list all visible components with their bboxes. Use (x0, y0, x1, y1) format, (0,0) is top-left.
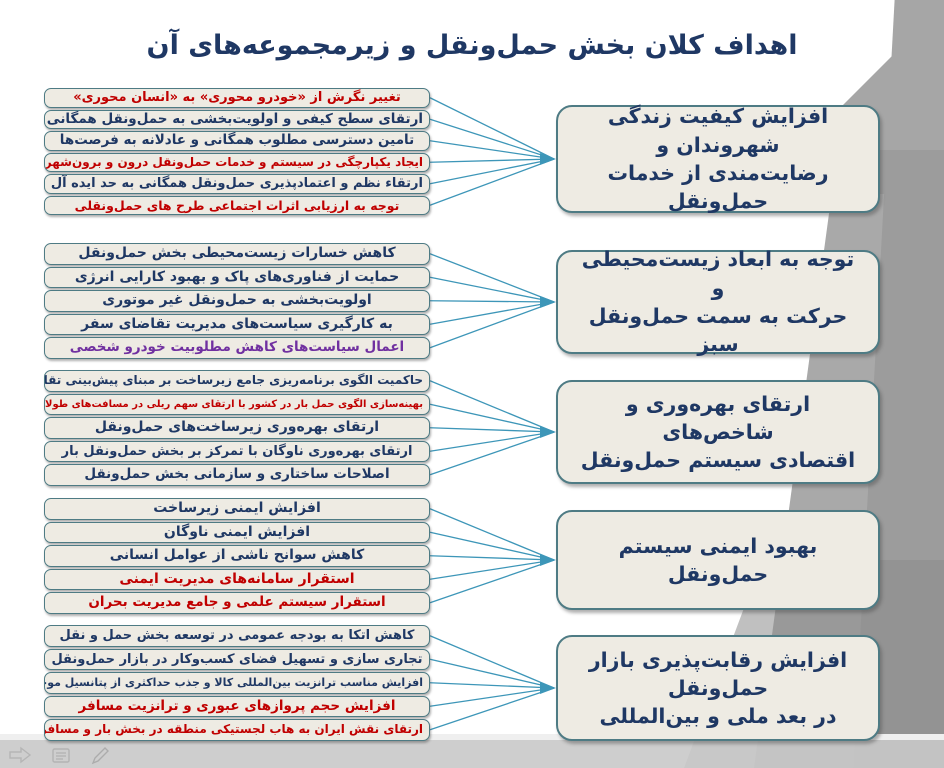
pencil-icon[interactable] (90, 744, 112, 766)
subgoal-label: استقرار سیستم علمی و جامع مدیریت بحران (51, 595, 423, 611)
connector-line (430, 560, 554, 603)
slide-canvas: اهداف کلان بخش حمل‌ونقل و زیرمجموعه‌های … (0, 0, 944, 768)
connector-line (430, 302, 554, 348)
subgoal-box[interactable]: حمایت از فناوری‌های پاک و بهبود کارایی ا… (44, 267, 430, 289)
subgoal-group: افزایش ایمنی زیرساختافزایش ایمنی ناوگانک… (44, 498, 430, 616)
main-goal-line: ارتقای بهره‌وری و شاخص‌های (572, 390, 864, 447)
main-goal-label: افزایش کیفیت زندگی شهروندان ورضایت‌مندی … (572, 102, 864, 215)
subgoal-label: ارتقای نقش ایران به هاب لجستیکی منطقه در… (51, 722, 423, 738)
connector-line (430, 159, 554, 184)
subgoal-box[interactable]: تغییر نگرش از «خودرو محوری» به «انسان مح… (44, 88, 430, 108)
connector-line (430, 159, 554, 162)
main-goal-line: اقتصادی سیستم حمل‌ونقل (572, 446, 864, 474)
connector-line (430, 302, 554, 324)
connector-line (430, 432, 554, 451)
main-goal-line: توجه به ابعاد زیست‌محیطی و (572, 245, 864, 302)
subgoal-box[interactable]: اولویت‌بخشی به حمل‌ونقل غیر موتوری (44, 290, 430, 312)
main-goal-box[interactable]: بهبود ایمنی سیستم حمل‌ونقل (556, 510, 880, 610)
subgoal-label: اصلاحات ساختاری و سازمانی بخش حمل‌ونقل (51, 467, 423, 483)
connector-line (430, 636, 554, 688)
connector-arrowhead (540, 682, 556, 694)
main-goal-line: رضایت‌مندی از خدمات حمل‌ونقل (572, 159, 864, 216)
main-goal-line: افزایش رقابت‌پذیری بازار حمل‌ونقل (572, 646, 864, 703)
arrow-right-icon[interactable] (8, 744, 32, 766)
connector-line (430, 277, 554, 302)
subgoal-box[interactable]: استقرار سامانه‌های مدیریت ایمنی (44, 569, 430, 591)
subgoal-group: کاهش خسارات زیست‌محیطی بخش حمل‌ونقلحمایت… (44, 243, 430, 361)
subgoal-label: کاهش اتکا به بودجه عمومی در توسعه بخش حم… (51, 628, 423, 644)
subgoal-box[interactable]: تجاری سازی و تسهیل فضای کسب‌وکار در بازا… (44, 649, 430, 671)
subgoal-box[interactable]: افزایش ایمنی ناوگان (44, 522, 430, 544)
subgoal-label: تامین دسترسی مطلوب همگانی و عادلانه به ف… (51, 134, 423, 148)
subgoal-box[interactable]: ارتقای نقش ایران به هاب لجستیکی منطقه در… (44, 719, 430, 741)
main-goal-line: حرکت به سمت حمل‌ونقل سبز (572, 302, 864, 359)
subgoal-label: تغییر نگرش از «خودرو محوری» به «انسان مح… (51, 91, 423, 105)
subgoal-label: حاکمیت الگوی برنامه‌ریزی جامع زیرساخت بر… (51, 373, 423, 389)
subgoal-box[interactable]: ارتقای سطح کیفی و اولویت‌بخشی به حمل‌ونق… (44, 110, 430, 130)
connector-line (430, 301, 554, 302)
subgoal-box[interactable]: بهینه‌سازی الگوی حمل بار در کشور با ارتق… (44, 394, 430, 416)
subgoal-box[interactable]: کاهش سوانح ناشی از عوامل انسانی (44, 545, 430, 567)
main-goal-label: توجه به ابعاد زیست‌محیطی وحرکت به سمت حم… (572, 245, 864, 358)
subgoal-group: تغییر نگرش از «خودرو محوری» به «انسان مح… (44, 88, 430, 217)
connector-line (430, 119, 554, 159)
main-goal-box[interactable]: توجه به ابعاد زیست‌محیطی وحرکت به سمت حم… (556, 250, 880, 354)
subgoal-box[interactable]: افزایش حجم پروازهای عبوری و ترانزیت مساف… (44, 696, 430, 718)
connector-arrowhead (540, 296, 556, 308)
main-goal-box[interactable]: ارتقای بهره‌وری و شاخص‌هایاقتصادی سیستم … (556, 380, 880, 484)
main-goal-label: افزایش رقابت‌پذیری بازار حمل‌ونقلدر بعد … (572, 646, 864, 731)
connector-line (430, 688, 554, 730)
connector-arrowhead (540, 426, 556, 438)
subgoal-box[interactable]: افزایش مناسب ترانزیت بین‌المللی کالا و ج… (44, 672, 430, 694)
subgoal-label: ارتقای سطح کیفی و اولویت‌بخشی به حمل‌ونق… (51, 113, 423, 127)
connector-line (430, 432, 554, 475)
subgoal-box[interactable]: حاکمیت الگوی برنامه‌ریزی جامع زیرساخت بر… (44, 370, 430, 392)
connector-line (430, 509, 554, 560)
status-tray (8, 744, 112, 766)
connector-arrowhead (540, 153, 556, 165)
subgoal-label: ارتقاء نظم و اعتمادپذیری حمل‌ونقل همگانی… (51, 177, 423, 191)
main-goal-box[interactable]: افزایش کیفیت زندگی شهروندان ورضایت‌مندی … (556, 105, 880, 213)
subgoal-label: کاهش سوانح ناشی از عوامل انسانی (51, 548, 423, 564)
subgoal-label: افزایش ایمنی زیرساخت (51, 501, 423, 517)
connector-line (430, 560, 554, 579)
main-goal-line: بهبود ایمنی سیستم حمل‌ونقل (572, 532, 864, 589)
subgoal-box[interactable]: کاهش خسارات زیست‌محیطی بخش حمل‌ونقل (44, 243, 430, 265)
subgoal-label: توجه به ارزیابی اثرات اجتماعی طرح های حم… (51, 199, 423, 213)
subgoal-label: افزایش حجم پروازهای عبوری و ترانزیت مساف… (51, 699, 423, 715)
subgoal-box[interactable]: ارتقاء نظم و اعتمادپذیری حمل‌ونقل همگانی… (44, 174, 430, 194)
subgoal-group: کاهش اتکا به بودجه عمومی در توسعه بخش حم… (44, 625, 430, 743)
main-goal-line: افزایش کیفیت زندگی شهروندان و (572, 102, 864, 159)
subgoal-label: افزایش ایمنی ناوگان (51, 525, 423, 541)
subgoal-label: ارتقای بهره‌وری زیرساخت‌های حمل‌ونقل (51, 420, 423, 436)
main-goal-box[interactable]: افزایش رقابت‌پذیری بازار حمل‌ونقلدر بعد … (556, 635, 880, 741)
subgoal-label: حمایت از فناوری‌های پاک و بهبود کارایی ا… (51, 270, 423, 286)
main-goal-label: بهبود ایمنی سیستم حمل‌ونقل (572, 532, 864, 589)
subgoal-label: کاهش خسارات زیست‌محیطی بخش حمل‌ونقل (51, 246, 423, 262)
subgoal-box[interactable]: اعمال سیاست‌های کاهش مطلوبیت خودرو شخصی (44, 337, 430, 359)
main-goal-line: در بعد ملی و بین‌المللی (572, 702, 864, 730)
main-goal-label: ارتقای بهره‌وری و شاخص‌هایاقتصادی سیستم … (572, 390, 864, 475)
subgoal-box[interactable]: اصلاحات ساختاری و سازمانی بخش حمل‌ونقل (44, 464, 430, 486)
connector-line (430, 688, 554, 706)
subgoal-label: استقرار سامانه‌های مدیریت ایمنی (51, 572, 423, 588)
subgoal-label: ارتقای بهره‌وری ناوگان با تمرکز بر بخش ح… (51, 444, 423, 460)
subgoal-box[interactable]: به کارگیری سیاست‌های مدیریت تقاضای سفر (44, 314, 430, 336)
notes-icon[interactable] (50, 744, 72, 766)
connector-line (430, 254, 554, 302)
subgoal-label: افزایش مناسب ترانزیت بین‌المللی کالا و ج… (51, 675, 423, 691)
subgoal-box[interactable]: ارتقای بهره‌وری ناوگان با تمرکز بر بخش ح… (44, 441, 430, 463)
connector-arrowhead (540, 554, 556, 566)
subgoal-box[interactable]: توجه به ارزیابی اثرات اجتماعی طرح های حم… (44, 196, 430, 216)
subgoal-label: ایجاد یکپارچگی در سیستم و خدمات حمل‌ونقل… (51, 156, 423, 170)
subgoal-label: اولویت‌بخشی به حمل‌ونقل غیر موتوری (51, 293, 423, 309)
connector-line (430, 159, 554, 205)
subgoal-label: تجاری سازی و تسهیل فضای کسب‌وکار در بازا… (51, 652, 423, 668)
subgoal-box[interactable]: کاهش اتکا به بودجه عمومی در توسعه بخش حم… (44, 625, 430, 647)
connector-line (430, 381, 554, 432)
subgoal-group: حاکمیت الگوی برنامه‌ریزی جامع زیرساخت بر… (44, 370, 430, 488)
subgoal-box[interactable]: ارتقای بهره‌وری زیرساخت‌های حمل‌ونقل (44, 417, 430, 439)
subgoal-box[interactable]: استقرار سیستم علمی و جامع مدیریت بحران (44, 592, 430, 614)
subgoal-box[interactable]: تامین دسترسی مطلوب همگانی و عادلانه به ف… (44, 131, 430, 151)
subgoal-label: بهینه‌سازی الگوی حمل بار در کشور با ارتق… (51, 397, 423, 413)
subgoal-label: به کارگیری سیاست‌های مدیریت تقاضای سفر (51, 317, 423, 333)
subgoal-label: اعمال سیاست‌های کاهش مطلوبیت خودرو شخصی (51, 340, 423, 356)
subgoal-box[interactable]: ایجاد یکپارچگی در سیستم و خدمات حمل‌ونقل… (44, 153, 430, 173)
subgoal-box[interactable]: افزایش ایمنی زیرساخت (44, 498, 430, 520)
